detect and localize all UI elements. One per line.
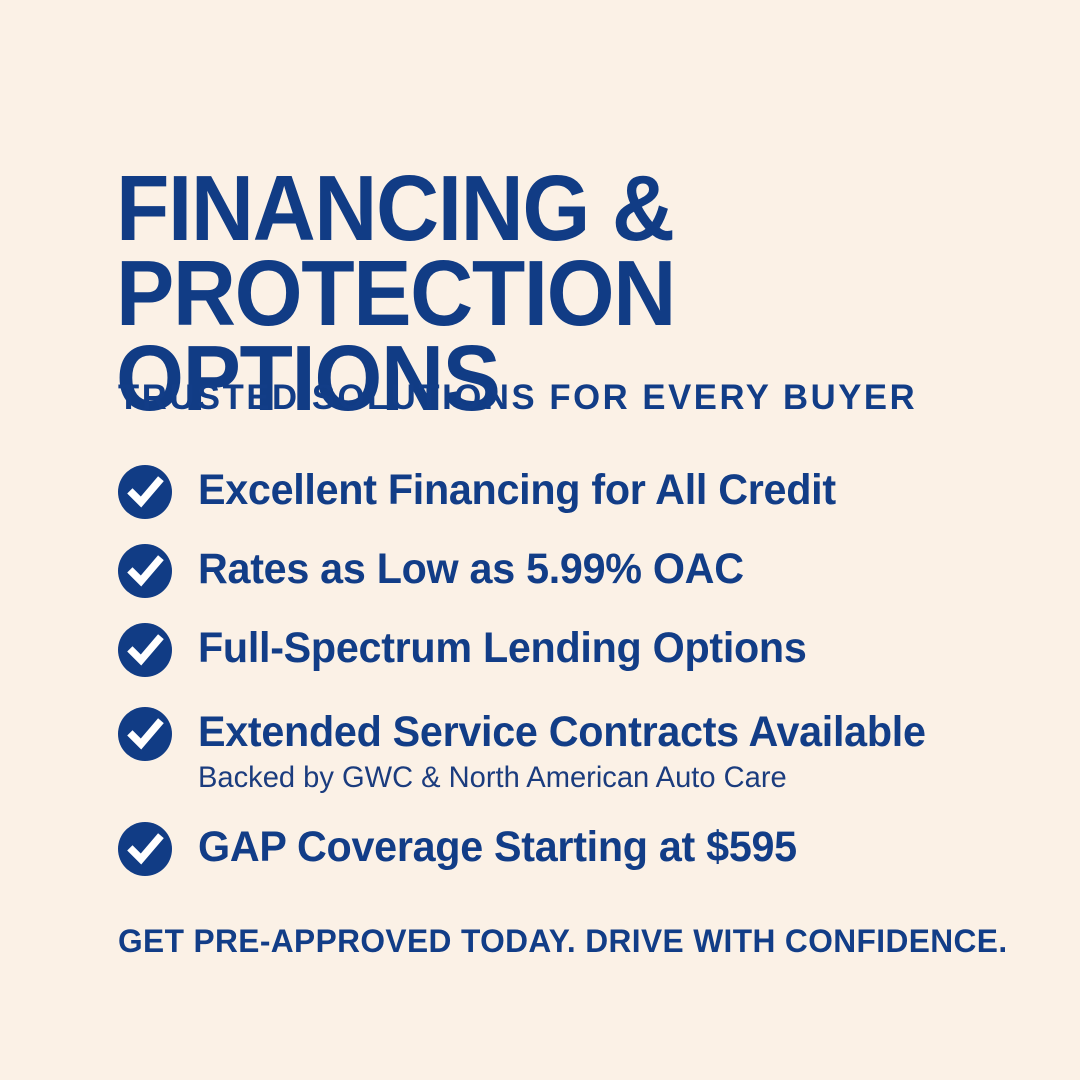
check-circle-icon xyxy=(118,623,172,677)
list-item-text: Excellent Financing for All Credit xyxy=(198,462,862,518)
call-to-action-text: GET PRE-APPROVED TODAY. DRIVE WITH CONFI… xyxy=(118,922,1008,960)
list-item: Extended Service Contracts Available Bac… xyxy=(118,704,1018,797)
check-circle-icon xyxy=(118,822,172,876)
list-item-text: GAP Coverage Starting at $595 xyxy=(198,819,822,875)
headline-line-1: FINANCING & xyxy=(116,166,962,251)
list-item-text: Extended Service Contracts Available Bac… xyxy=(198,704,956,797)
list-item: Full-Spectrum Lending Options xyxy=(118,620,1018,682)
list-item: Rates as Low as 5.99% OAC xyxy=(118,541,1018,603)
list-item-text: Full-Spectrum Lending Options xyxy=(198,620,832,676)
list-item-label: Extended Service Contracts Available xyxy=(198,704,926,760)
list-item: Excellent Financing for All Credit xyxy=(118,462,1018,524)
list-item-label: GAP Coverage Starting at $595 xyxy=(198,819,797,875)
list-item-label: Excellent Financing for All Credit xyxy=(198,462,836,518)
list-item-label: Full-Spectrum Lending Options xyxy=(198,620,807,676)
benefits-list: Excellent Financing for All Credit Rates… xyxy=(118,462,1018,881)
check-circle-icon xyxy=(118,707,172,761)
check-circle-icon xyxy=(118,544,172,598)
check-circle-icon xyxy=(118,465,172,519)
list-item-label: Rates as Low as 5.99% OAC xyxy=(198,541,744,597)
subtitle: TRUSTED SOLUTIONS FOR EVERY BUYER xyxy=(118,378,917,418)
list-item-subtext: Backed by GWC & North American Auto Care xyxy=(198,759,933,797)
headline-line-2: PROTECTION xyxy=(116,251,962,336)
list-item: GAP Coverage Starting at $595 xyxy=(118,819,1018,881)
promo-poster: FINANCING & PROTECTION OPTIONS TRUSTED S… xyxy=(0,0,1080,1080)
list-item-text: Rates as Low as 5.99% OAC xyxy=(198,541,766,597)
